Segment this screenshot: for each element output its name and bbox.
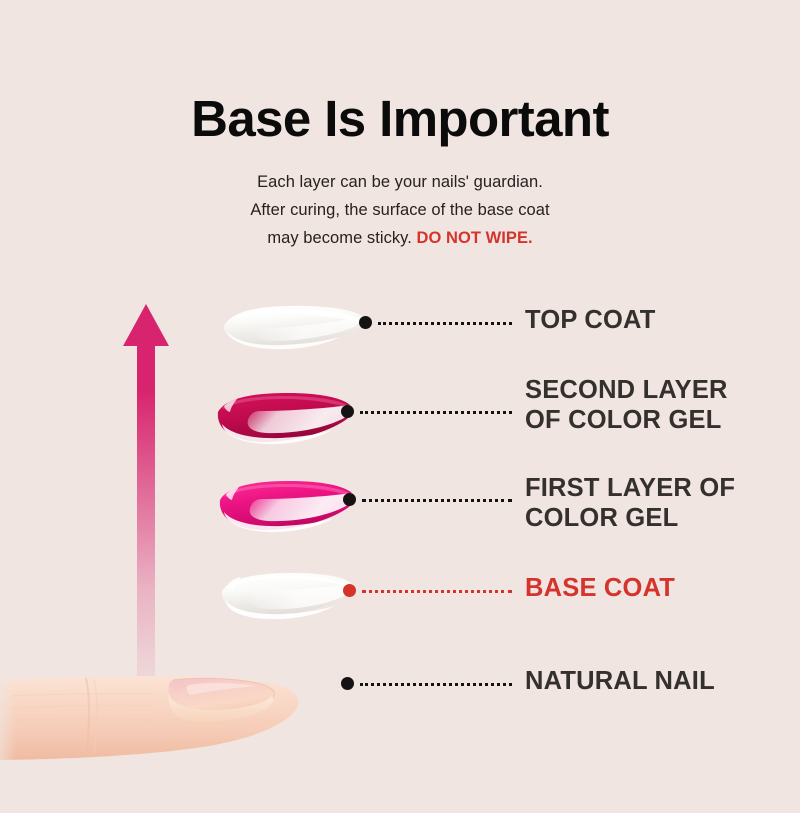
clear-gloss-nail-icon xyxy=(210,566,360,624)
label-top-coat: TOP COAT xyxy=(525,305,656,335)
page-subtitle: Each layer can be your nails' guardian. … xyxy=(0,168,800,252)
label-second-color-gel: SECOND LAYER OF COLOR GEL xyxy=(525,375,728,435)
label-natural-nail: NATURAL NAIL xyxy=(525,666,715,696)
nail-base-coat xyxy=(210,566,360,629)
finger-icon xyxy=(0,648,340,808)
subtitle-line-2: After curing, the surface of the base co… xyxy=(0,196,800,224)
do-not-wipe-warning: DO NOT WIPE. xyxy=(417,229,533,247)
clear-gloss-nail-icon xyxy=(210,300,370,356)
callout-line-top-coat xyxy=(378,322,512,325)
subtitle-line-3: may become sticky. DO NOT WIPE. xyxy=(0,224,800,252)
callout-dot-base-coat xyxy=(343,584,356,597)
label-base-coat: BASE COAT xyxy=(525,573,675,603)
callout-dot-first-color-gel xyxy=(343,493,356,506)
nail-top-coat xyxy=(210,300,370,361)
finger-with-natural-nail xyxy=(0,648,340,808)
callout-dot-second-color-gel xyxy=(341,405,354,418)
crimson-gel-nail-icon xyxy=(208,388,358,448)
nail-first-color-gel xyxy=(210,476,360,541)
infographic-canvas: Base Is Important Each layer can be your… xyxy=(0,0,800,800)
page-title: Base Is Important xyxy=(0,92,800,146)
arrow-icon xyxy=(118,300,174,700)
callout-line-natural-nail xyxy=(360,683,512,686)
nail-second-color-gel xyxy=(208,388,358,453)
callout-line-second-color-gel xyxy=(360,411,512,414)
callout-dot-top-coat xyxy=(359,316,372,329)
upward-arrow xyxy=(118,300,174,700)
callout-dot-natural-nail xyxy=(341,677,354,690)
label-first-color-gel: FIRST LAYER OF COLOR GEL xyxy=(525,473,735,533)
callout-line-first-color-gel xyxy=(362,499,512,502)
subtitle-line-1: Each layer can be your nails' guardian. xyxy=(0,168,800,196)
callout-line-base-coat xyxy=(362,590,512,593)
magenta-gel-nail-icon xyxy=(210,476,360,536)
subtitle-line-3-text: may become sticky. xyxy=(267,229,416,247)
